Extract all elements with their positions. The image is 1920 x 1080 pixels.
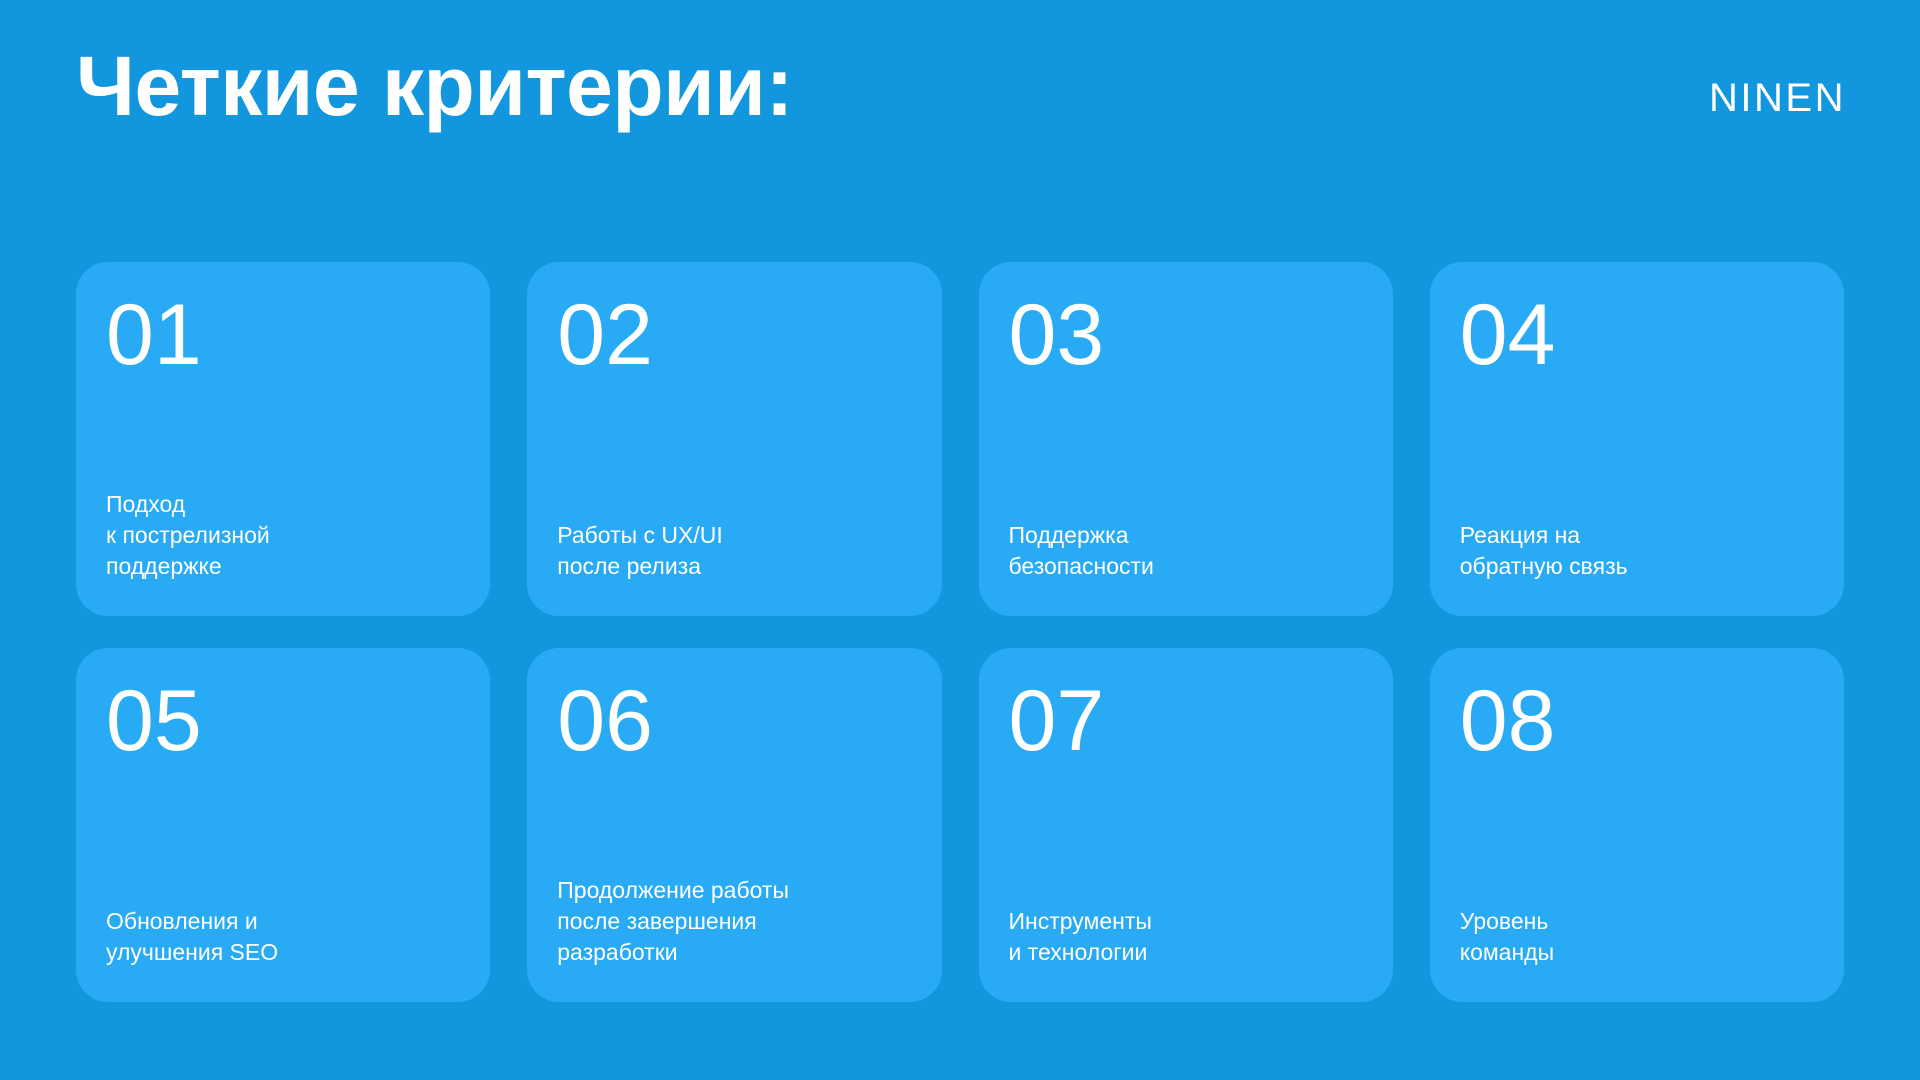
- card-label: Подход к пострелизной поддержке: [106, 489, 460, 586]
- card-number: 06: [557, 682, 911, 761]
- card-label: Уровень команды: [1460, 906, 1814, 972]
- card-number: 01: [106, 296, 460, 375]
- card-label: Реакция на обратную связь: [1460, 520, 1814, 586]
- card-number: 07: [1009, 682, 1363, 761]
- card-number: 04: [1460, 296, 1814, 375]
- criteria-card-01[interactable]: 01 Подход к пострелизной поддержке: [76, 262, 490, 616]
- brand-logo: NINEN: [1709, 78, 1846, 118]
- card-number: 08: [1460, 682, 1814, 761]
- card-label: Продолжение работы после завершения разр…: [557, 875, 911, 972]
- card-label: Поддержка безопасности: [1009, 520, 1363, 586]
- card-number: 03: [1009, 296, 1363, 375]
- page-title: Четкие критерии:: [76, 42, 793, 131]
- criteria-card-03[interactable]: 03 Поддержка безопасности: [979, 262, 1393, 616]
- card-label: Работы с UX/UI после релиза: [557, 520, 911, 586]
- criteria-card-05[interactable]: 05 Обновления и улучшения SEO: [76, 648, 490, 1002]
- criteria-card-06[interactable]: 06 Продолжение работы после завершения р…: [527, 648, 941, 1002]
- criteria-card-07[interactable]: 07 Инструменты и технологии: [979, 648, 1393, 1002]
- slide-header: Четкие критерии: NINEN: [0, 0, 1920, 200]
- slide-root: Четкие критерии: NINEN 01 Подход к постр…: [0, 0, 1920, 1080]
- criteria-card-08[interactable]: 08 Уровень команды: [1430, 648, 1844, 1002]
- criteria-card-04[interactable]: 04 Реакция на обратную связь: [1430, 262, 1844, 616]
- criteria-grid: 01 Подход к пострелизной поддержке 02 Ра…: [76, 262, 1844, 1002]
- card-label: Обновления и улучшения SEO: [106, 906, 460, 972]
- card-label: Инструменты и технологии: [1009, 906, 1363, 972]
- card-number: 02: [557, 296, 911, 375]
- criteria-card-02[interactable]: 02 Работы с UX/UI после релиза: [527, 262, 941, 616]
- card-number: 05: [106, 682, 460, 761]
